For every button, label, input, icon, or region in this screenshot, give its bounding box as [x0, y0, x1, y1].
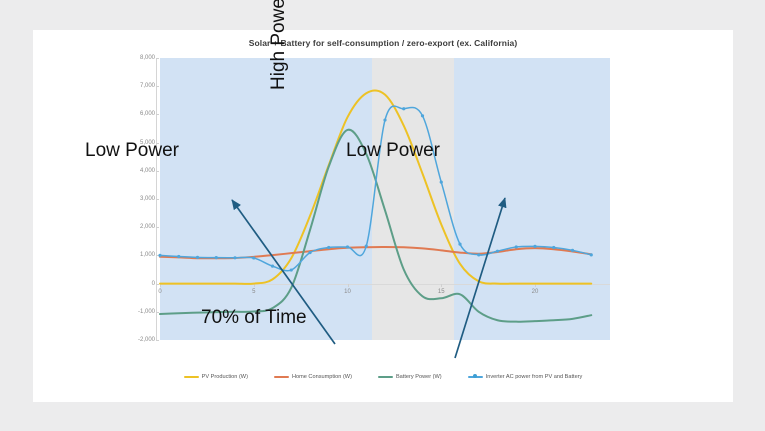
y-tick-label: 0 [152, 281, 155, 287]
y-tick-mark [156, 171, 159, 172]
plot-inner: 8,000 7,000 6,000 5,000 4,000 3,000 2,00… [160, 58, 610, 340]
chart-legend: PV Production (W) Home Consumption (W) B… [33, 374, 733, 380]
y-tick-label: 2,000 [140, 224, 155, 230]
y-tick-label: 4,000 [140, 168, 155, 174]
y-tick-label: 8,000 [140, 55, 155, 61]
arrow-low-power-right [455, 198, 505, 358]
legend-label: Inverter AC power from PV and Battery [486, 374, 583, 380]
y-tick-mark [156, 312, 159, 313]
y-tick-label: -2,000 [138, 337, 155, 343]
legend-swatch-icon [274, 376, 289, 378]
legend-item-home-consumption[interactable]: Home Consumption (W) [274, 374, 352, 380]
legend-label: Battery Power (W) [396, 374, 442, 380]
y-tick-label: 3,000 [140, 196, 155, 202]
legend-label: PV Production (W) [202, 374, 248, 380]
y-tick-mark [156, 227, 159, 228]
slide-canvas: Solar + Battery for self-consumption / z… [33, 30, 733, 402]
annotation-seventy-percent: 70% of Time [201, 307, 307, 329]
y-tick-label: 1,000 [140, 252, 155, 258]
legend-item-battery-power[interactable]: Battery Power (W) [378, 374, 442, 380]
legend-swatch-icon [468, 376, 483, 378]
y-tick-label: 7,000 [140, 83, 155, 89]
y-tick-mark [156, 199, 159, 200]
y-tick-mark [156, 58, 159, 59]
y-tick-mark [156, 284, 159, 285]
annotation-high-power: High Power [268, 0, 290, 90]
annotation-low-power-right: Low Power [346, 140, 440, 162]
legend-item-pv-production[interactable]: PV Production (W) [184, 374, 248, 380]
y-tick-label: -1,000 [138, 309, 155, 315]
y-tick-label: 6,000 [140, 111, 155, 117]
legend-swatch-icon [184, 376, 199, 378]
legend-label: Home Consumption (W) [292, 374, 352, 380]
chart-plot-area: 8,000 7,000 6,000 5,000 4,000 3,000 2,00… [33, 30, 733, 402]
legend-swatch-icon [378, 376, 393, 378]
y-tick-mark [156, 340, 159, 341]
y-tick-mark [156, 86, 159, 87]
annotation-low-power-left: Low Power [85, 140, 179, 162]
legend-item-inverter-ac-power[interactable]: Inverter AC power from PV and Battery [468, 374, 583, 380]
y-tick-mark [156, 114, 159, 115]
